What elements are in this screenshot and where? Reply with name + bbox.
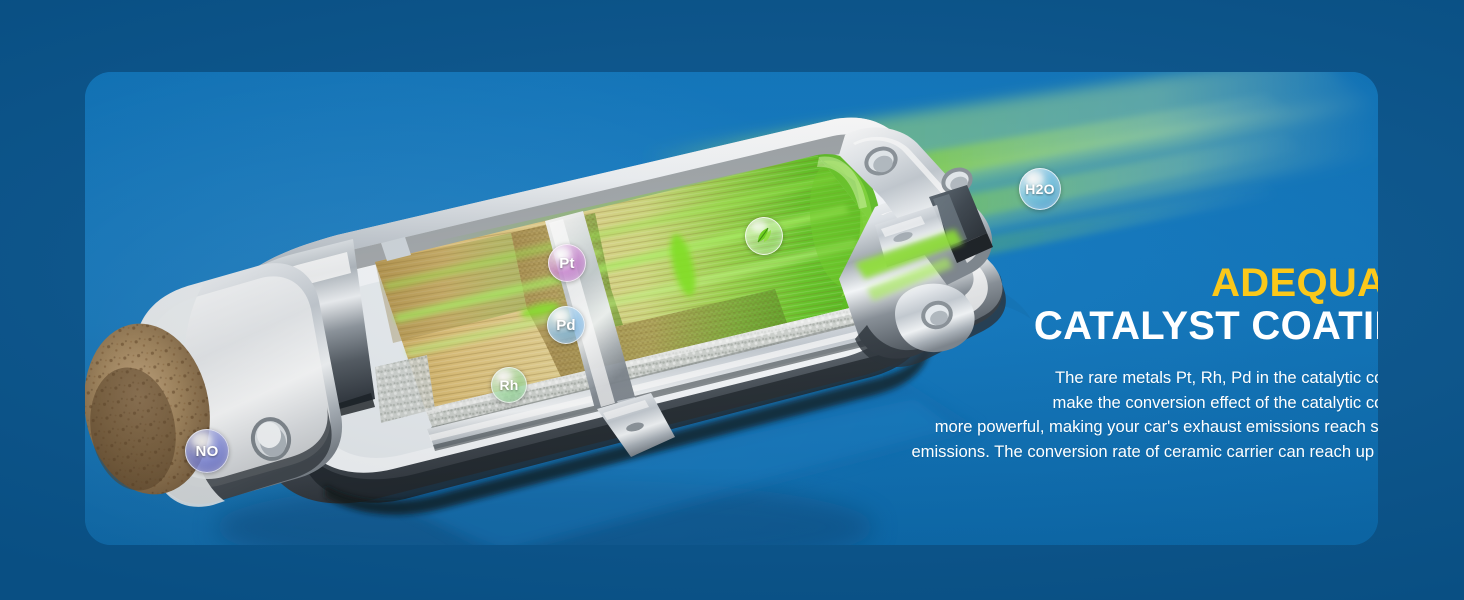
- body-line-3: more powerful, making your car's exhaust…: [775, 415, 1378, 440]
- body-line-1: The rare metals Pt, Rh, Pd in the cataly…: [775, 366, 1378, 391]
- body-line-4: emissions. The conversion rate of cerami…: [775, 440, 1378, 465]
- badge-pt-label: Pt: [559, 255, 574, 272]
- content-panel: Pt Pd Rh H2O NO ADEQUATE CATALYST COATIN…: [85, 72, 1378, 545]
- badge-pt: Pt: [548, 244, 586, 282]
- headline-accent: ADEQUATE: [775, 262, 1378, 304]
- badge-nox: NO: [185, 429, 229, 473]
- badge-rh-label: Rh: [499, 377, 518, 393]
- badge-h2o-label: H2O: [1025, 181, 1054, 197]
- badge-h2o: H2O: [1019, 168, 1061, 210]
- body-line-2: make the conversion effect of the cataly…: [775, 391, 1378, 416]
- text-block: ADEQUATE CATALYST COATING The rare metal…: [775, 262, 1378, 464]
- headline-primary: CATALYST COATING: [775, 304, 1378, 349]
- badge-pd-label: Pd: [556, 317, 576, 334]
- badge-leaf: [745, 217, 783, 255]
- badge-rh: Rh: [491, 367, 527, 403]
- badge-nox-label: NO: [196, 443, 219, 460]
- leaf-icon: [753, 225, 775, 247]
- badge-pd: Pd: [547, 306, 585, 344]
- banner-canvas: Pt Pd Rh H2O NO ADEQUATE CATALYST COATIN…: [0, 0, 1464, 600]
- body-copy: The rare metals Pt, Rh, Pd in the cataly…: [775, 366, 1378, 464]
